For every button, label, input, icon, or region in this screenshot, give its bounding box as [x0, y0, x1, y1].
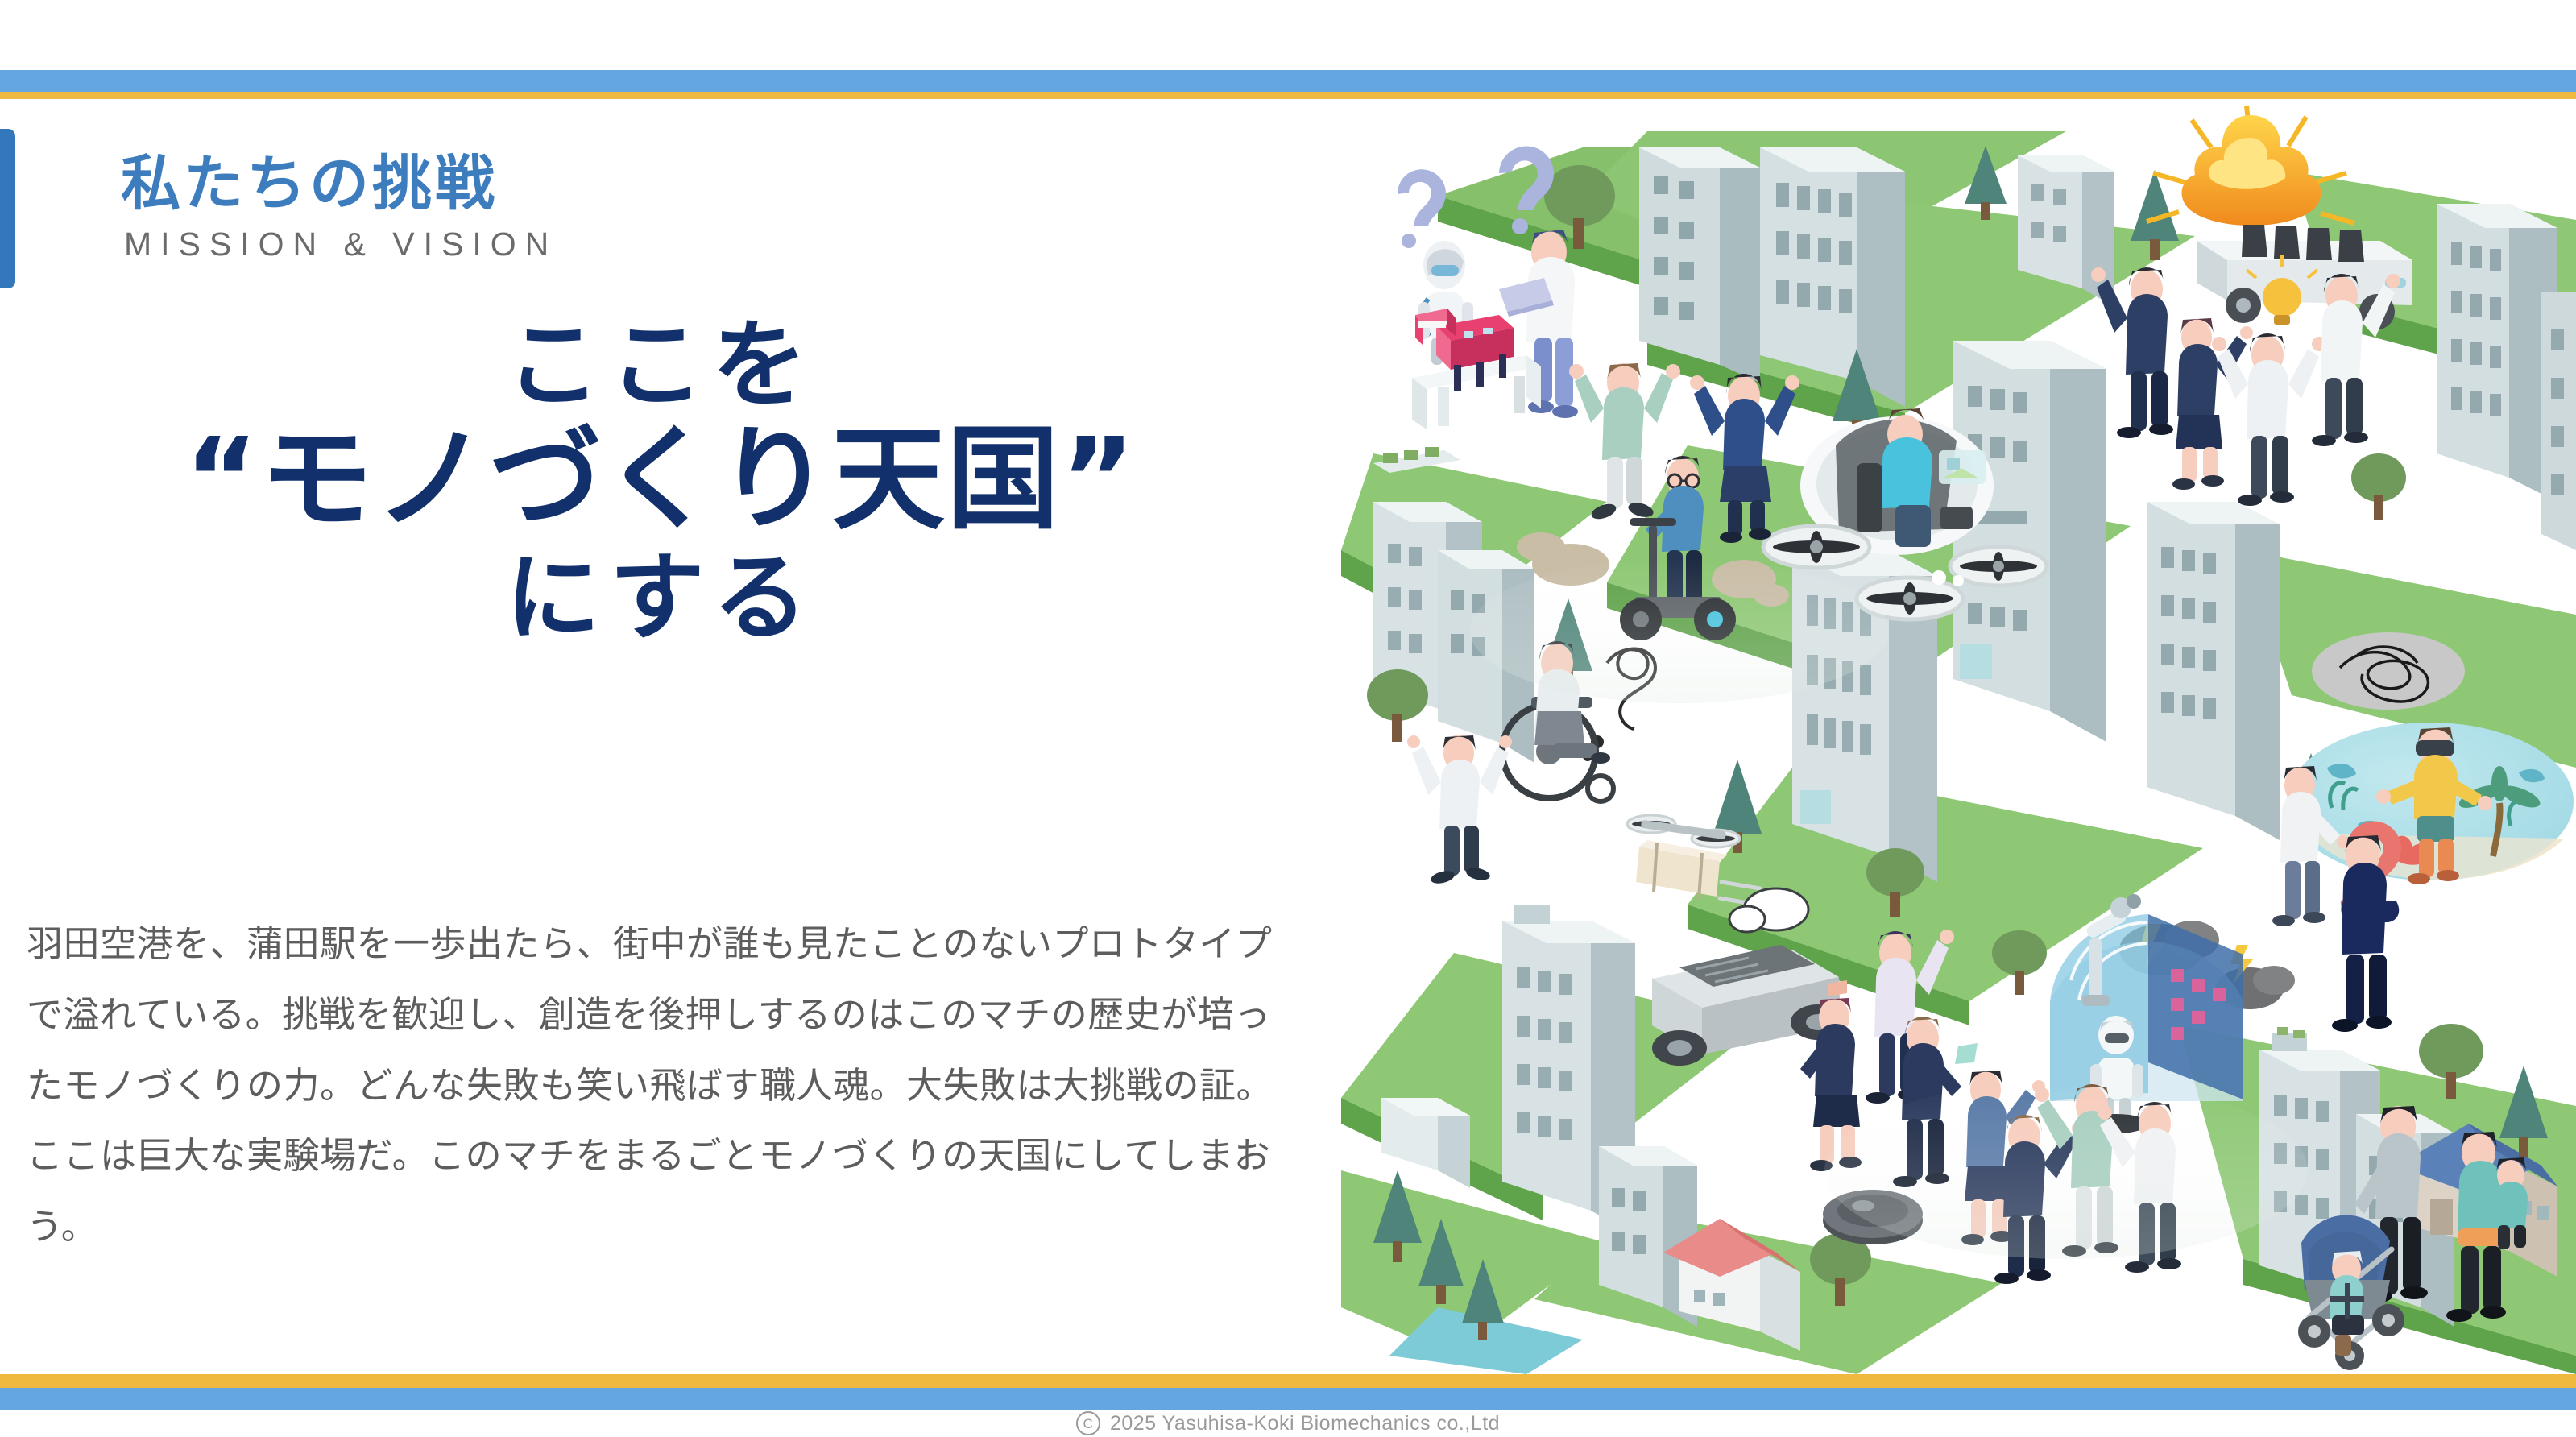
slide-root: 私たちの挑戦 MISSION & VISION ここを “モノづくり天国” にす… [0, 0, 2576, 1437]
copyright-text: 2025 Yasuhisa-Koki Biomechanics co.,Ltd [1110, 1412, 1500, 1435]
isometric-city-illustration [1341, 99, 2576, 1374]
section-kicker: 私たちの挑戦 MISSION & VISION [121, 154, 557, 261]
scribble-thought-right [2312, 632, 2465, 710]
headline-line-1: ここを [0, 317, 1321, 413]
headline-line-2: “モノづくり天国” [0, 423, 1321, 538]
bottom-blue-rule [0, 1388, 2576, 1410]
footer-copyright: C 2025 Yasuhisa-Koki Biomechanics co.,Lt… [0, 1410, 2576, 1437]
top-gold-rule [0, 92, 2576, 99]
kicker-japanese: 私たちの挑戦 [121, 154, 557, 213]
page-title: ここを “モノづくり天国” にする [0, 317, 1321, 647]
body-paragraph: 羽田空港を、蒲田駅を一歩出たら、街中が誰も見たことのないプロトタイプで溢れている… [27, 909, 1299, 1262]
kicker-english: MISSION & VISION [124, 228, 557, 261]
top-blue-rule [0, 70, 2576, 92]
bottom-gold-rule [0, 1374, 2576, 1388]
copyright-icon: C [1076, 1411, 1100, 1435]
headline-line-3: にする [0, 549, 1321, 646]
text-column: 私たちの挑戦 MISSION & VISION ここを “モノづくり天国” にす… [0, 99, 1341, 1374]
